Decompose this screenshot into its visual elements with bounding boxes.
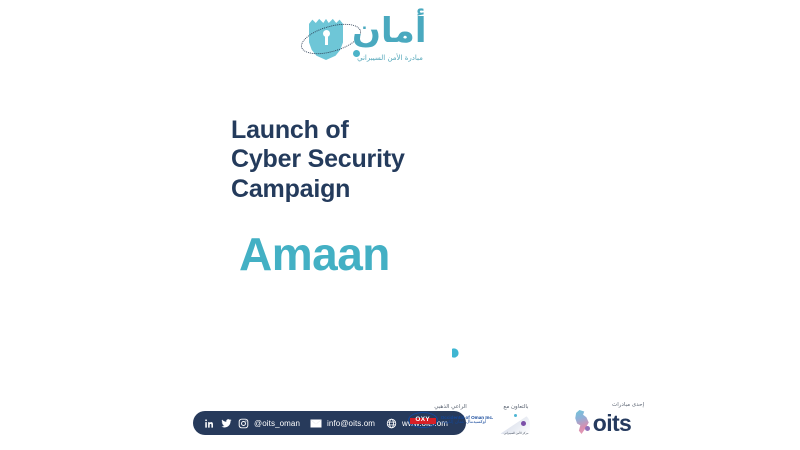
headline-line-2: Cyber Security (231, 145, 405, 174)
sponsor-oits: إحدى مبادرات oits (556, 402, 648, 436)
logo-arabic-tagline: مبادرة الأمن السيبراني (352, 54, 428, 62)
campaign-wordmark: Amaan (239, 231, 390, 277)
headline-line-3: Campaign (231, 175, 405, 204)
headline-line-1: Launch of (231, 116, 405, 145)
shield-keyhole-icon (306, 16, 346, 64)
contact-email[interactable]: info@oits.om (327, 419, 375, 428)
oits-map-dot (585, 426, 590, 431)
poster-canvas: أمان مبادرة الأمن السيبراني Launch of Cy… (0, 0, 800, 450)
oxy-mark-text: OXY (408, 416, 438, 424)
social-handle[interactable]: @oits_oman (254, 419, 300, 428)
dotted-oman-map (452, 62, 692, 402)
sponsor-cooperation: بالتعاون مع مركز الأمن السيبراني (481, 404, 551, 436)
linkedin-icon[interactable] (203, 417, 215, 429)
instagram-icon[interactable] (237, 417, 249, 429)
sponsor-coop-kicker: بالتعاون مع (481, 404, 551, 410)
twitter-icon[interactable] (220, 417, 232, 429)
coop-dot-purple (521, 421, 526, 426)
page-title: Launch of Cyber Security Campaign (231, 116, 405, 204)
amaan-logo: أمان مبادرة الأمن السيبراني (268, 12, 428, 74)
oxy-mark-icon: OXY (408, 412, 438, 428)
map-dot-cover (452, 62, 692, 402)
sponsor-oits-kicker: إحدى مبادرات (556, 402, 648, 408)
oits-wordmark: oits (593, 412, 632, 435)
coop-dot-blue (514, 414, 517, 417)
map-svg (452, 62, 692, 402)
partner-fan-icon: مركز الأمن السيبراني (499, 412, 533, 436)
globe-icon[interactable] (385, 417, 397, 429)
oman-map-icon (573, 410, 592, 436)
coop-caption: مركز الأمن السيبراني (497, 432, 535, 436)
oits-logo: oits (556, 410, 648, 436)
envelope-icon[interactable] (310, 417, 322, 429)
logo-arabic-name: أمان (352, 14, 427, 48)
